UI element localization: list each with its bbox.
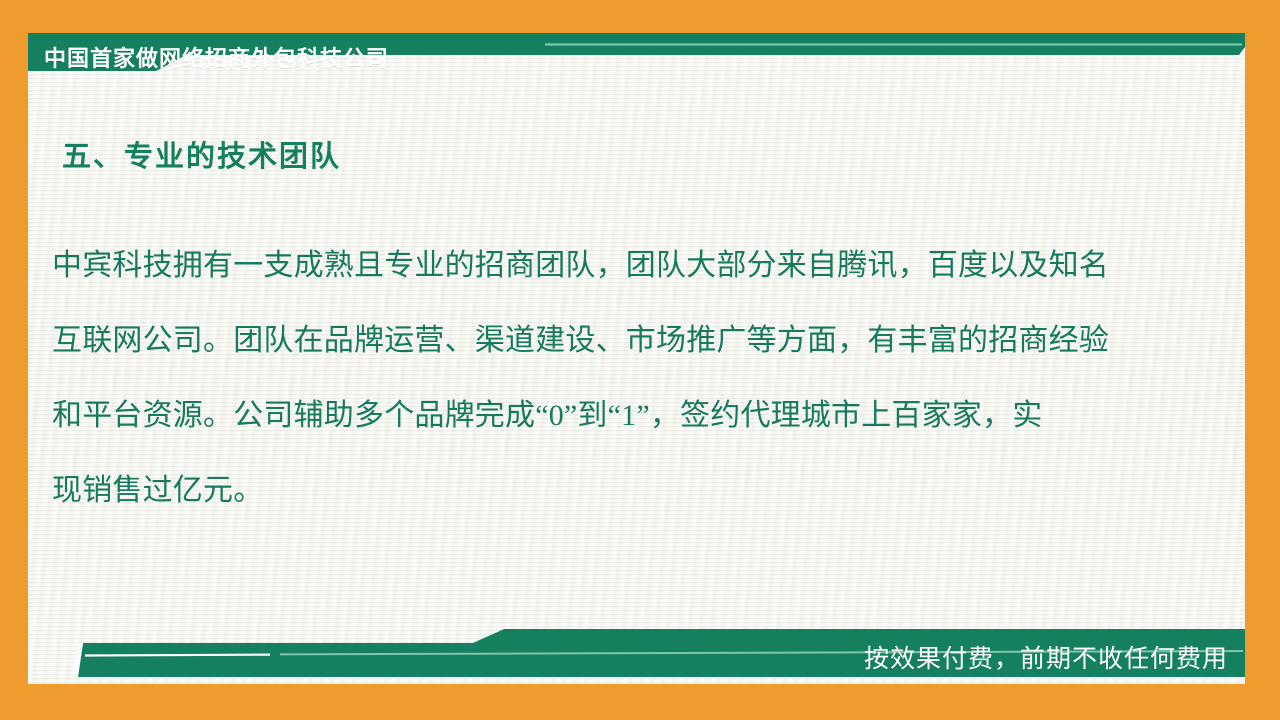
section-heading: 五、专业的技术团队 — [62, 133, 341, 175]
body-paragraph: 中宾科技拥有一支成熟且专业的招商团队，团队大部分来自腾讯，百度以及知名 互联网公… — [52, 228, 1182, 528]
presentation-slide: 中国首家做网络招商外包科技公司 五、专业的技术团队 中宾科技拥有一支成熟且专业的… — [0, 0, 1280, 720]
body-line: 现销售过亿元。 — [52, 453, 1182, 528]
body-line: 互联网公司。团队在品牌运营、渠道建设、市场推广等方面，有丰富的招商经验 — [52, 303, 1182, 378]
header-banner-title: 中国首家做网络招商外包科技公司 — [44, 34, 389, 80]
footer-banner-accent-line-left — [85, 655, 270, 656]
footer-banner-tagline: 按效果付费，前期不收任何费用 — [864, 636, 1228, 678]
body-line: 和平台资源。公司辅助多个品牌完成“0”到“1”，签约代理城市上百家家，实 — [52, 378, 1182, 453]
body-line: 中宾科技拥有一支成熟且专业的招商团队，团队大部分来自腾讯，百度以及知名 — [52, 228, 1182, 303]
